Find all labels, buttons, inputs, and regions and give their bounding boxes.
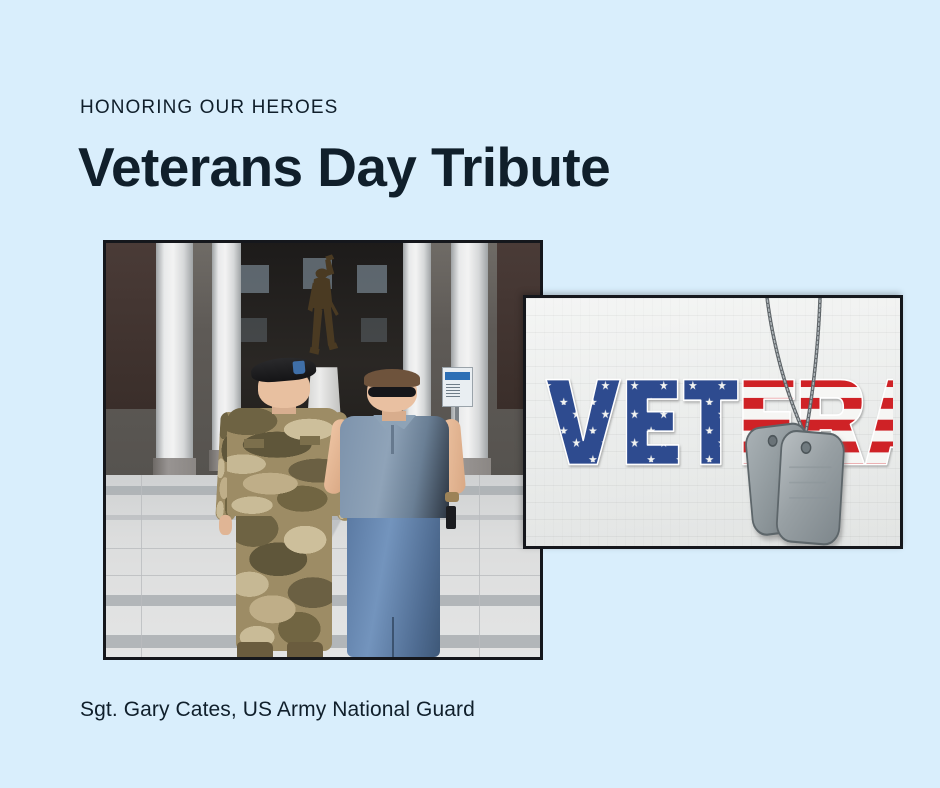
marble-column: [156, 243, 193, 458]
civilian-jeans: [347, 515, 440, 657]
photo-veteran-content: The word VETERAN in American flag colors…: [526, 298, 900, 546]
ball-chain: [767, 295, 821, 430]
wristwatch: [445, 492, 459, 502]
soldier-uniform-jacket: [227, 408, 342, 517]
building-sidewall-left: [106, 243, 158, 409]
soldier-service-tape: [300, 436, 321, 445]
sunglasses-icon: [368, 387, 416, 397]
polo-placket: [391, 425, 394, 454]
soldier-hand: [219, 515, 232, 535]
photo-soldier-portrait: A soldier in Army camouflage uniform and…: [103, 240, 543, 660]
dog-tags: [735, 295, 877, 546]
beret-flash-insignia: [293, 360, 306, 374]
window-pane: [238, 265, 269, 294]
window-pane: [357, 265, 388, 294]
photo-veteran-dogtags: The word VETERAN in American flag colors…: [523, 295, 903, 549]
soldier-boot-right: [287, 642, 323, 660]
soldier-name-tape: [244, 439, 265, 448]
eyebrow-text: HONORING OUR HEROES: [80, 97, 338, 119]
page-title: Veterans Day Tribute: [78, 135, 610, 199]
window-pane: [361, 318, 388, 342]
photo-caption: Sgt. Gary Cates, US Army National Guard: [80, 698, 475, 722]
civilian-polo-shirt: [340, 416, 448, 517]
person-soldier: [219, 355, 349, 657]
person-civilian: [332, 367, 458, 657]
tribute-graphic: HONORING OUR HEROES Veterans Day Tribute…: [0, 0, 940, 788]
window-pane: [240, 318, 267, 342]
soldier-boot-left: [237, 642, 273, 660]
photo-soldier-content: A soldier in Army camouflage uniform and…: [106, 243, 540, 657]
jeans-inseam: [392, 617, 393, 657]
civilian-neck: [382, 411, 406, 421]
mobile-phone: [446, 506, 456, 529]
civilian-hair: [364, 369, 419, 388]
soldier-trousers: [236, 512, 332, 651]
